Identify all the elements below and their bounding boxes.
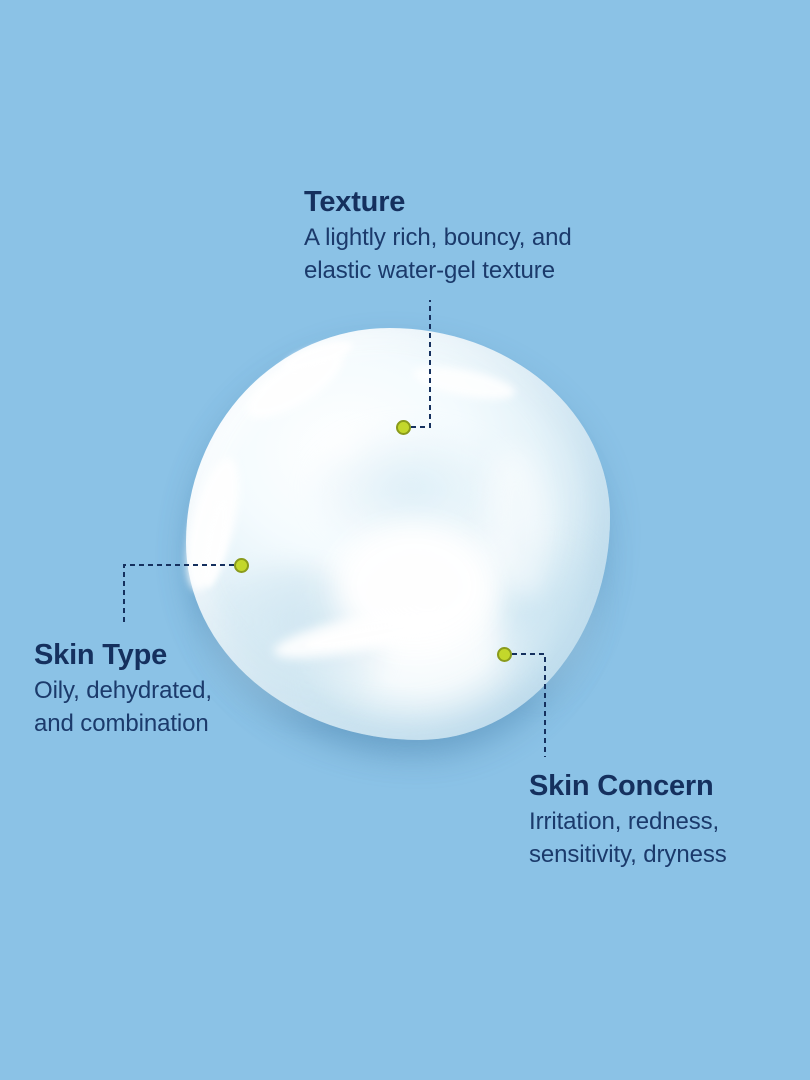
callout-skin-concern: Skin Concern Irritation, redness, sensit… bbox=[529, 772, 727, 871]
swatch-highlight-bottom-arc bbox=[270, 597, 455, 668]
swatch-highlight-left-streak-2 bbox=[198, 495, 234, 589]
swatch-shade-upper bbox=[306, 424, 516, 554]
swatch-highlight-right bbox=[478, 445, 559, 601]
callout-dot-texture bbox=[396, 420, 411, 435]
callout-texture-body: A lightly rich, bouncy, and elastic wate… bbox=[304, 221, 572, 287]
swatch-highlight-top-left-2 bbox=[281, 335, 356, 376]
callout-texture-heading: Texture bbox=[304, 188, 572, 217]
callout-dot-skin-type bbox=[234, 558, 249, 573]
swatch-highlight-bottom-arc-2 bbox=[304, 618, 425, 653]
infographic-canvas: Texture A lightly rich, bouncy, and elas… bbox=[0, 0, 810, 1080]
callout-skin-type-body: Oily, dehydrated, and combination bbox=[34, 674, 212, 740]
swatch-highlight-top-left bbox=[238, 338, 352, 430]
swatch-center-glow bbox=[336, 524, 492, 648]
callout-texture: Texture A lightly rich, bouncy, and elas… bbox=[304, 188, 572, 287]
swatch-body bbox=[186, 328, 610, 740]
swatch-shade-lower-left bbox=[194, 566, 384, 726]
callout-skin-concern-heading: Skin Concern bbox=[529, 772, 727, 801]
swatch-highlight-top-right bbox=[410, 360, 517, 405]
callout-skin-concern-body: Irritation, redness, sensitivity, drynes… bbox=[529, 805, 727, 871]
cream-texture-swatch bbox=[186, 328, 616, 758]
callout-dot-skin-concern bbox=[497, 647, 512, 662]
swatch-highlight-left-streak bbox=[176, 453, 250, 595]
callout-skin-type-heading: Skin Type bbox=[34, 641, 212, 670]
callout-skin-type: Skin Type Oily, dehydrated, and combinat… bbox=[34, 641, 212, 740]
